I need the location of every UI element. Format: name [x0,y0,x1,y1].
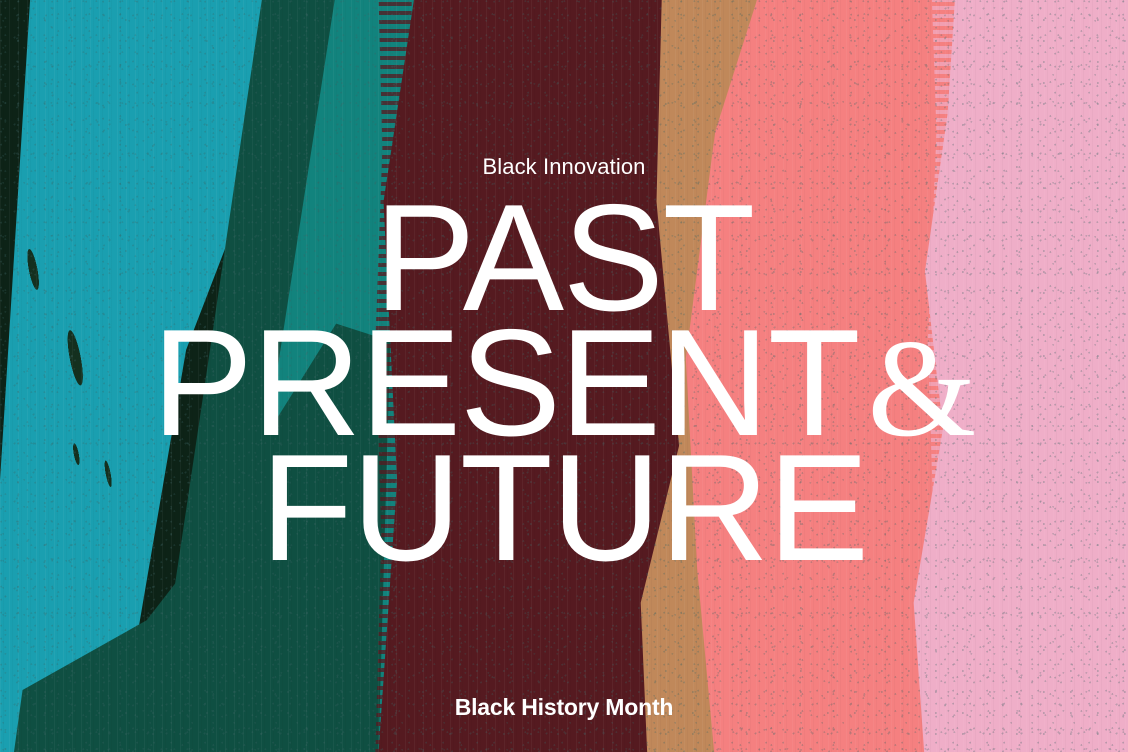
ampersand-glyph: & [859,311,976,466]
poster-canvas: Black Innovation PAST PRESENT& FUTURE Bl… [0,0,1128,752]
poster-text-block: Black Innovation PAST PRESENT& FUTURE Bl… [0,0,1128,752]
headline: PAST PRESENT& FUTURE [0,196,1128,571]
footer-text: Black History Month [0,696,1128,719]
